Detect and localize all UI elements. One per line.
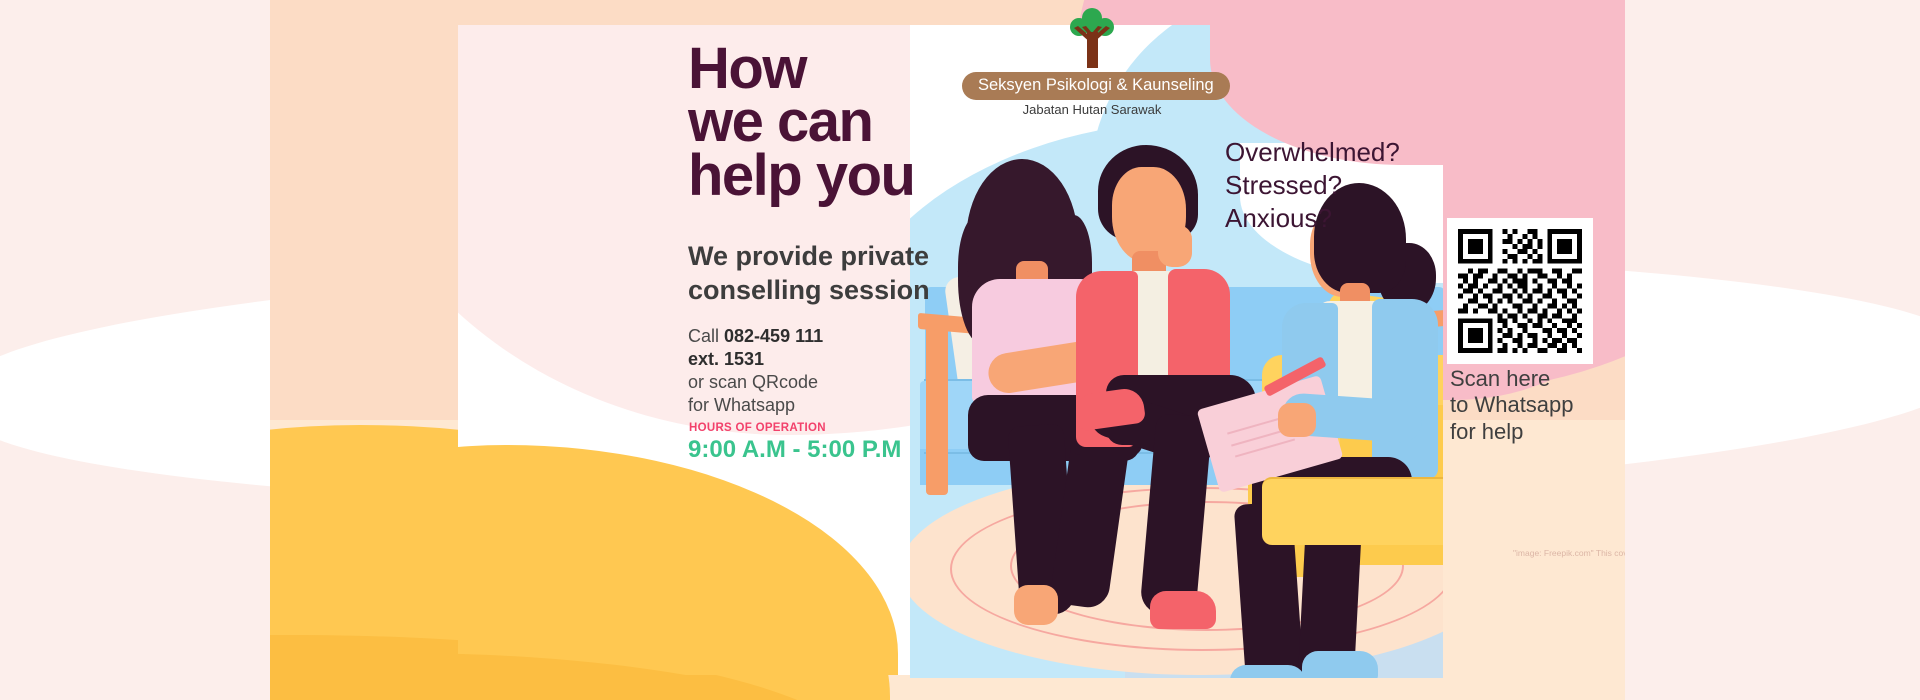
banner-stage: How we can help you We provide private c… [0, 0, 1920, 700]
client-two-hand [1158, 225, 1192, 267]
subheading: We provide private conselling session [688, 240, 988, 308]
phone-number[interactable]: 082-459 111 [724, 326, 823, 346]
qr-caption-line-1: Scan here [1450, 366, 1600, 392]
call-label: Call [688, 326, 724, 346]
tree-icon [1062, 8, 1122, 70]
hours-label: HOURS OF OPERATION [689, 422, 826, 434]
call-line: Call 082-459 111 [688, 325, 948, 348]
subhead-line-1: We provide private [688, 240, 988, 274]
organisation-logo: Seksyen Psikologi & Kaunseling Jabatan H… [962, 8, 1222, 117]
scan-instruction-1: or scan QRcode [688, 371, 948, 394]
qr-code-container[interactable] [1447, 218, 1593, 364]
hours-value: 9:00 A.M - 5:00 P.M [688, 436, 901, 464]
banner-card: How we can help you We provide private c… [270, 0, 1625, 700]
question-stack: Overwhelmed? Stressed? Anxious? [1225, 136, 1400, 234]
qr-code-icon[interactable] [1458, 229, 1582, 353]
question-1: Overwhelmed? [1225, 136, 1400, 169]
question-2: Stressed? [1225, 169, 1400, 202]
counsellor-cardigan-right [1372, 299, 1438, 479]
armchair-cushion [1262, 477, 1443, 545]
extension-value: ext. 1531 [688, 349, 764, 369]
headline-line-3: help you [688, 149, 1018, 202]
image-credit: "image: Freepik.com" This cover has been… [1513, 548, 1625, 558]
question-3: Anxious? [1225, 202, 1400, 235]
counsellor-shoe-left [1230, 665, 1306, 678]
logo-subtitle: Jabatan Hutan Sarawak [962, 102, 1222, 117]
logo-title: Seksyen Psikologi & Kaunseling [962, 72, 1230, 100]
contact-block: Call 082-459 111 ext. 1531 or scan QRcod… [688, 325, 948, 417]
extension: ext. 1531 [688, 348, 948, 371]
qr-caption: Scan here to Whatsapp for help [1450, 366, 1600, 445]
subhead-line-2: conselling session [688, 274, 988, 308]
client-one-foot [1014, 585, 1058, 625]
qr-caption-line-2: to Whatsapp [1450, 392, 1600, 418]
counsellor-shoe-right [1302, 651, 1378, 678]
counsellor-hand [1278, 403, 1316, 437]
client-two-shoe-lower [1150, 591, 1216, 629]
qr-caption-line-3: for help [1450, 419, 1600, 445]
scan-instruction-2: for Whatsapp [688, 394, 948, 417]
panel-yellow-blob [458, 445, 898, 675]
